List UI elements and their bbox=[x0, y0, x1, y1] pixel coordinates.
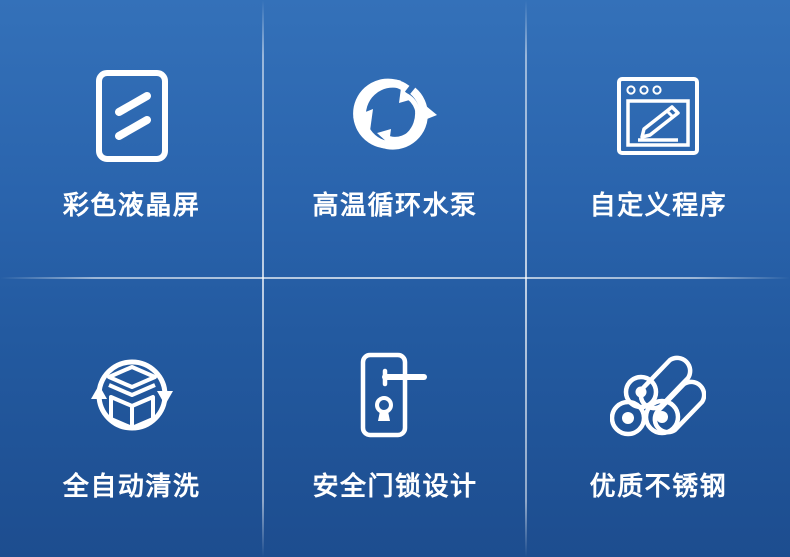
feature-label: 自定义程序 bbox=[590, 192, 728, 218]
feature-label: 优质不锈钢 bbox=[590, 473, 728, 499]
feature-cell-safety-door-lock-design[interactable]: 安全门锁设计 bbox=[263, 279, 526, 557]
circulation-arrows-icon bbox=[340, 68, 450, 164]
feature-label: 全自动清洗 bbox=[63, 473, 201, 499]
feature-label: 彩色液晶屏 bbox=[63, 192, 201, 218]
box-recycle-icon bbox=[77, 347, 187, 443]
feature-label: 高温循环水泵 bbox=[312, 192, 477, 218]
feature-cell-fully-automatic-cleaning[interactable]: 全自动清洗 bbox=[0, 279, 263, 557]
lcd-screen-icon bbox=[77, 68, 187, 164]
feature-label: 安全门锁设计 bbox=[312, 473, 477, 499]
feature-grid: 彩色液晶屏 高温循环水泵 bbox=[0, 0, 790, 557]
feature-cell-color-lcd-screen[interactable]: 彩色液晶屏 bbox=[0, 0, 263, 279]
feature-cell-custom-program[interactable]: 自定义程序 bbox=[527, 0, 790, 279]
feature-cell-high-temp-circulation-pump[interactable]: 高温循环水泵 bbox=[263, 0, 526, 279]
window-pencil-icon bbox=[603, 68, 713, 164]
feature-cell-premium-stainless-steel[interactable]: 优质不锈钢 bbox=[527, 279, 790, 557]
steel-pipes-icon bbox=[603, 347, 713, 443]
door-lock-icon bbox=[340, 347, 450, 443]
